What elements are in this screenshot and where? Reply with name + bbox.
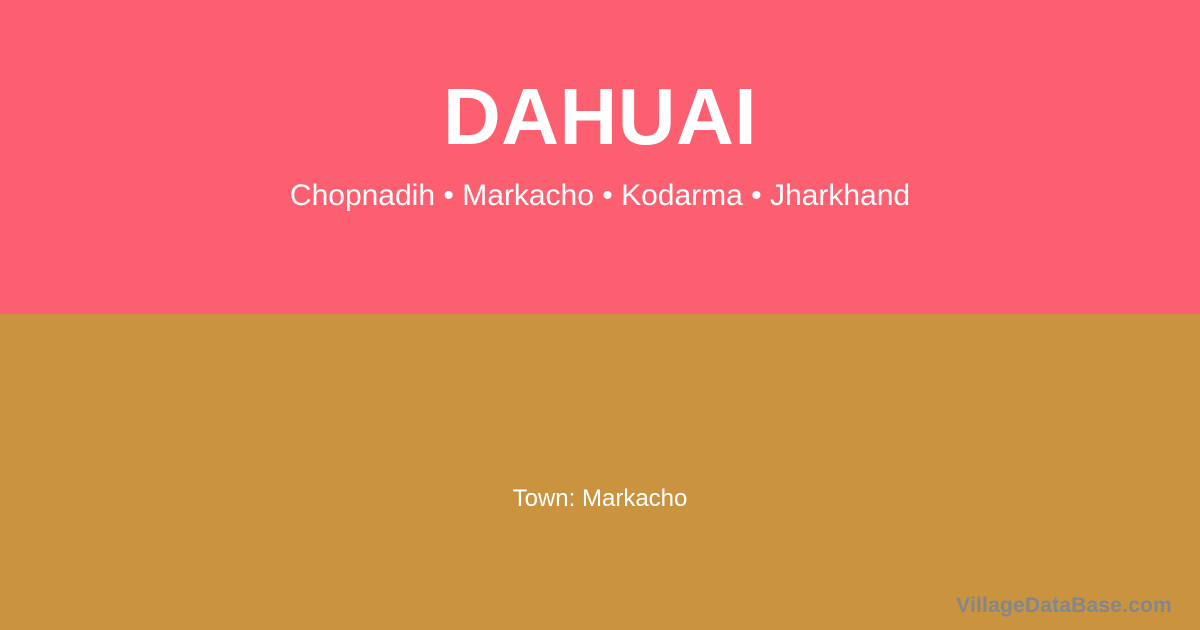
breadcrumb: Chopnadih • Markacho • Kodarma • Jharkha… (290, 179, 910, 212)
header-banner: DAHUAI Chopnadih • Markacho • Kodarma • … (0, 0, 1200, 314)
village-info-card: DAHUAI Chopnadih • Markacho • Kodarma • … (0, 0, 1200, 630)
page-title: DAHUAI (443, 77, 757, 157)
site-watermark: VillageDataBase.com (956, 595, 1172, 616)
town-detail-label: Town: Markacho (0, 485, 1200, 514)
details-panel: Town: Markacho VillageDataBase.com (0, 314, 1200, 630)
